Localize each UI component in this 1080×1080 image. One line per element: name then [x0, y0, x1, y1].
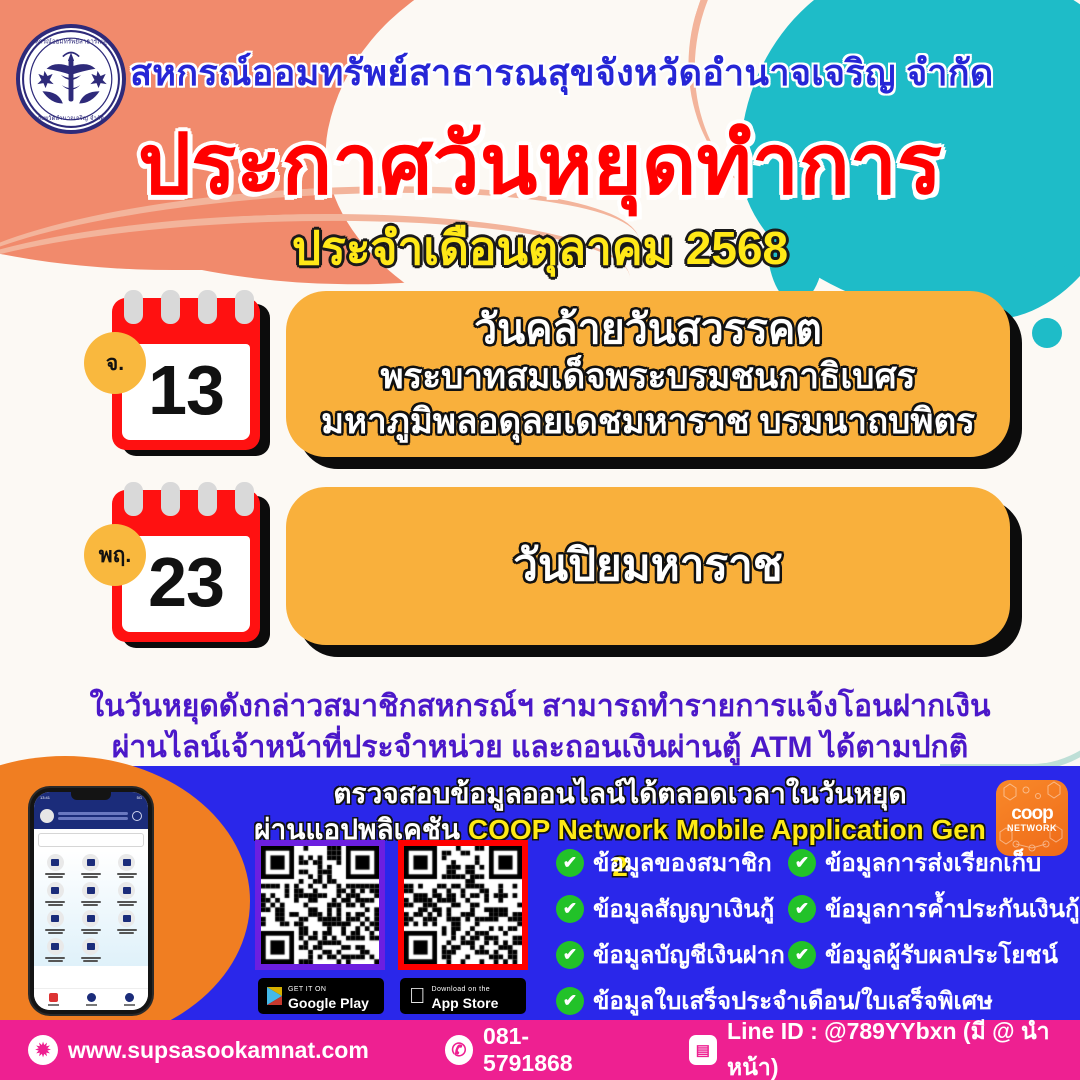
- check-icon: ✔: [788, 941, 816, 969]
- calendar-ring: [161, 290, 180, 324]
- holiday-row: 13 จ. วันคล้ายวันสวรรคต พระบาทสมเด็จพระบ…: [80, 288, 1010, 460]
- calendar-ring: [161, 482, 180, 516]
- wallet-icon: [82, 882, 99, 899]
- bell-icon: [86, 993, 97, 1006]
- calendar-rings: [124, 290, 254, 324]
- qr-image: [261, 846, 379, 964]
- phone-menu-label: [81, 900, 101, 907]
- weekday-badge: จ.: [84, 332, 146, 394]
- profile-icon: [47, 854, 64, 871]
- card-icon: [47, 882, 64, 899]
- list-item: ✔ข้อมูลของสมาชิก: [556, 843, 788, 882]
- holiday-row: 23 พฤ. วันปิยมหาราช: [80, 480, 1010, 652]
- holiday-detail-line: พระบาทสมเด็จพระบรมชนกาธิเบศร: [380, 355, 915, 400]
- calendar-ring: [198, 290, 217, 324]
- website-text: www.supsasookamnat.com: [68, 1037, 369, 1064]
- calendar-ring: [124, 290, 143, 324]
- badge-big-label: App Store: [432, 995, 499, 1011]
- note-line-1: ในวันหยุดดังกล่าวสมาชิกสหกรณ์ฯ สามารถทำร…: [40, 686, 1040, 727]
- phone-menu-label: [117, 928, 137, 935]
- list-item: ✔ข้อมูลการค้ำประกันเงินกู้: [788, 889, 1050, 928]
- apple-icon: : [409, 985, 426, 1007]
- phone-menu-label: [45, 928, 65, 935]
- footer-phone[interactable]: ✆ 081-5791868: [445, 1023, 611, 1077]
- google-play-icon: [267, 987, 282, 1005]
- phone-menu-grid: [34, 851, 148, 966]
- phone-tab-bar: [34, 988, 148, 1010]
- phone-text: 081-5791868: [483, 1023, 611, 1077]
- list-icon: [82, 854, 99, 871]
- home-icon: [48, 993, 59, 1006]
- teal-dot: [1032, 318, 1062, 348]
- phone-menu-item: [110, 910, 143, 935]
- list-item: ✔ข้อมูลผู้รับผลประโยชน์: [788, 935, 1050, 974]
- google-play-badge[interactable]: GET IT ON Google Play: [258, 978, 384, 1014]
- briefcase-icon: [47, 938, 64, 955]
- holiday-card: วันคล้ายวันสวรรคต พระบาทสมเด็จพระบรมชนกา…: [286, 291, 1010, 457]
- avatar: [40, 809, 54, 823]
- phone-menu-label: [45, 900, 65, 907]
- badge-small-label: Download on the: [432, 986, 491, 993]
- badge-small-label: GET IT ON: [288, 986, 326, 993]
- phone-menu-label: [81, 928, 101, 935]
- qr-image: [404, 846, 522, 964]
- phone-menu-label: [45, 872, 65, 879]
- phone-menu-item: [39, 938, 72, 963]
- list-item-label: ข้อมูลผู้รับผลประโยชน์: [825, 935, 1058, 974]
- svg-text:สหกรณ์ออมทรัพย์สาธารณสุข: สหกรณ์ออมทรัพย์สาธารณสุข: [31, 37, 111, 45]
- gear-icon: [124, 993, 135, 1006]
- check-icon: ✔: [788, 895, 816, 923]
- list-item: ✔ข้อมูลสัญญาเงินกู้: [556, 889, 788, 928]
- check-icon: ✔: [556, 895, 584, 923]
- calendar-ring: [124, 482, 143, 516]
- deposit-icon: [118, 882, 135, 899]
- phone-menu-item: [75, 854, 108, 879]
- holiday-card: วันปิยมหาราช: [286, 487, 1010, 645]
- holiday-card-wrapper: วันคล้ายวันสวรรคต พระบาทสมเด็จพระบรมชนกา…: [286, 291, 1010, 457]
- beneficiary-icon: [82, 938, 99, 955]
- holiday-detail-line: มหาภูมิพลอดุลยเดชมหาราช บรมนาถบพิตร: [321, 400, 975, 445]
- feature-checklist: ✔ข้อมูลของสมาชิก ✔ข้อมูลการส่งเรียกเก็บ …: [556, 843, 1066, 1020]
- phone-menu-label: [117, 872, 137, 879]
- list-item-label: ข้อมูลบัญชีเงินฝาก: [593, 935, 785, 974]
- globe-icon: ✹: [28, 1035, 58, 1065]
- qr-app-store[interactable]: [398, 840, 528, 970]
- list-item-label: ข้อมูลการค้ำประกันเงินกู้: [825, 889, 1080, 928]
- phone-menu-label: [117, 900, 137, 907]
- list-item: ✔ข้อมูลบัญชีเงินฝาก: [556, 935, 788, 974]
- phone-menu-item: [110, 882, 143, 907]
- organization-title: สหกรณ์ออมทรัพย์สาธารณสุขจังหวัดอำนาจเจริ…: [130, 44, 1050, 101]
- receipt-icon: [47, 910, 64, 927]
- badge-text: GET IT ON Google Play: [288, 979, 375, 1013]
- phone-menu-item: [39, 882, 72, 907]
- page-title: ประกาศวันหยุดทำการ: [0, 118, 1080, 210]
- check-icon: ✔: [556, 941, 584, 969]
- phone-icon: ✆: [445, 1035, 473, 1065]
- holiday-note: ในวันหยุดดังกล่าวสมาชิกสหกรณ์ฯ สามารถทำร…: [40, 686, 1040, 769]
- phone-menu-label: [81, 872, 101, 879]
- contract-icon: [118, 854, 135, 871]
- phone-menu-item: [75, 910, 108, 935]
- check-icon: ✔: [788, 849, 816, 877]
- footer-website[interactable]: ✹ www.supsasookamnat.com: [28, 1035, 369, 1065]
- check-icon: ✔: [556, 849, 584, 877]
- document-icon: [82, 910, 99, 927]
- badge-big-label: Google Play: [288, 995, 369, 1011]
- holiday-title: วันปิยมหาราช: [513, 538, 782, 594]
- phone-menu-item: [110, 854, 143, 879]
- calendar-ring: [235, 482, 254, 516]
- footer-line-id[interactable]: ▤ Line ID : @789YYbxn (มี @ นำหน้า): [689, 1014, 1080, 1080]
- list-item-label: ข้อมูลการส่งเรียกเก็บ: [825, 843, 1041, 882]
- line-app-icon: ▤: [689, 1035, 717, 1065]
- phone-menu-item: [39, 910, 72, 935]
- poster-root: สหกรณ์ออมทรัพย์สาธารณสุข จังหวัดอำนาจเจร…: [0, 0, 1080, 1080]
- phone-menu-item: [75, 882, 108, 907]
- phone-menu-item: [39, 854, 72, 879]
- holiday-card-wrapper: วันปิยมหาราช: [286, 487, 1010, 645]
- list-item-label: ข้อมูลสัญญาเงินกู้: [593, 889, 774, 928]
- settings-icon: [118, 910, 135, 927]
- calendar-icon: 23 พฤ.: [80, 482, 272, 650]
- list-item: ✔ข้อมูลการส่งเรียกเก็บ: [788, 843, 1050, 882]
- phone-mockup: 13:415G: [30, 788, 152, 1014]
- gear-icon: [132, 811, 142, 821]
- calendar-ring: [235, 290, 254, 324]
- note-line-2: ผ่านไลน์เจ้าหน้าที่ประจำหน่วย และถอนเงิน…: [40, 727, 1040, 768]
- app-heading-line-1: ตรวจสอบข้อมูลออนไลน์ได้ตลอดเวลาในวันหยุด: [250, 776, 990, 812]
- phone-app-header: [34, 803, 148, 829]
- badge-text: Download on the App Store: [432, 979, 518, 1013]
- check-icon: ✔: [556, 987, 584, 1015]
- contact-footer: ✹ www.supsasookamnat.com ✆ 081-5791868 ▤…: [0, 1020, 1080, 1080]
- phone-menu-label: [81, 956, 101, 963]
- phone-search-input: [38, 833, 144, 847]
- line-id-text: Line ID : @789YYbxn (มี @ นำหน้า): [727, 1014, 1080, 1080]
- app-store-badge[interactable]:  Download on the App Store: [400, 978, 526, 1014]
- list-item-label: ข้อมูลของสมาชิก: [593, 843, 772, 882]
- calendar-ring: [198, 482, 217, 516]
- phone-menu-label: [45, 956, 65, 963]
- holiday-title: วันคล้ายวันสวรรคต: [474, 303, 822, 355]
- calendar-rings: [124, 482, 254, 516]
- weekday-badge: พฤ.: [84, 524, 146, 586]
- page-subtitle: ประจำเดือนตุลาคม 2568: [0, 212, 1080, 285]
- phone-screen: 13:415G: [34, 792, 148, 1010]
- phone-menu-item: [75, 938, 108, 963]
- phone-notch: [71, 792, 111, 800]
- calendar-icon: 13 จ.: [80, 290, 272, 458]
- qr-google-play[interactable]: [255, 840, 385, 970]
- phone-user-name: [58, 810, 128, 822]
